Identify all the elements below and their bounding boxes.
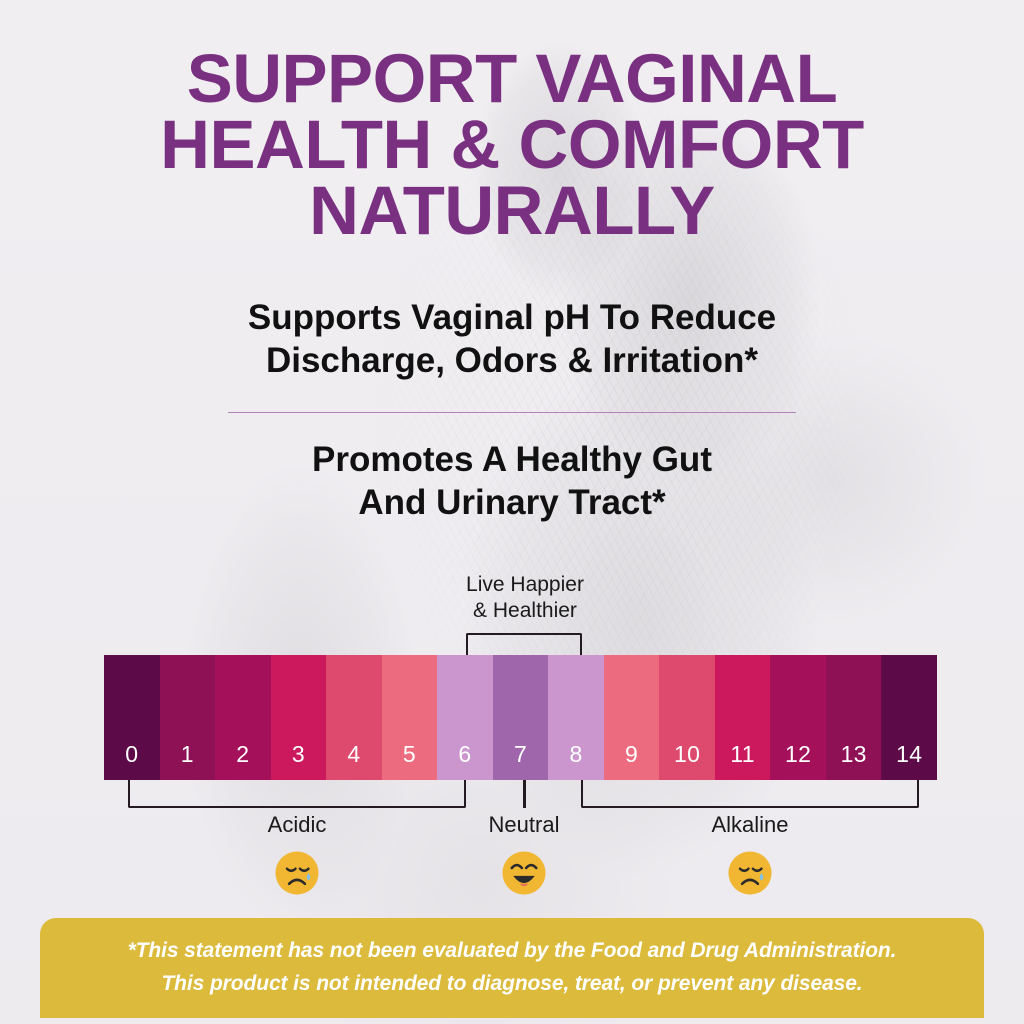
ph-color-bar: 01234567891011121314 — [104, 655, 937, 780]
disclaimer-banner: *This statement has not been evaluated b… — [40, 918, 984, 1018]
ph-band-2: 2 — [215, 655, 271, 780]
ph-band-1: 1 — [160, 655, 216, 780]
disclaimer-line-2: This product is not intended to diagnose… — [161, 972, 862, 997]
ph-band-10: 10 — [659, 655, 715, 780]
ph-band-6: 6 — [437, 655, 493, 780]
ph-band-label-0: 0 — [125, 743, 138, 780]
subheading-primary: Supports Vaginal pH To Reduce Discharge,… — [0, 296, 1024, 383]
headline-line-1: SUPPORT VAGINAL — [0, 46, 1024, 112]
zone-acidic-label: Acidic — [177, 814, 417, 836]
subheading-secondary-line-2: And Urinary Tract* — [0, 481, 1024, 524]
subheading-secondary: Promotes A Healthy Gut And Urinary Tract… — [0, 438, 1024, 525]
subheading-primary-line-1: Supports Vaginal pH To Reduce — [0, 296, 1024, 339]
live-happier-bracket — [466, 633, 582, 656]
zone-acidic: Acidic — [177, 814, 417, 901]
zone-alkaline: Alkaline — [630, 814, 870, 901]
ph-band-3: 3 — [271, 655, 327, 780]
ph-band-label-10: 10 — [674, 743, 700, 780]
zone-alkaline-label: Alkaline — [630, 814, 870, 836]
ph-band-label-8: 8 — [569, 743, 582, 780]
section-divider — [228, 412, 796, 413]
ph-band-13: 13 — [826, 655, 882, 780]
ph-band-14: 14 — [881, 655, 937, 780]
infographic-content: SUPPORT VAGINAL HEALTH & COMFORT NATURAL… — [0, 0, 1024, 1024]
ph-band-label-11: 11 — [730, 743, 754, 780]
ph-band-label-1: 1 — [181, 743, 194, 780]
sad-crying-face-emoji — [630, 850, 870, 901]
alkaline-range-bracket — [581, 780, 919, 808]
headline-line-3: NATURALLY — [0, 178, 1024, 244]
ph-band-label-7: 7 — [514, 743, 527, 780]
page-title: SUPPORT VAGINAL HEALTH & COMFORT NATURAL… — [0, 46, 1024, 245]
ph-band-label-6: 6 — [458, 743, 471, 780]
zone-neutral: Neutral — [404, 814, 644, 901]
ph-band-0: 0 — [104, 655, 160, 780]
live-happier-callout-label: Live Happier & Healthier — [403, 572, 647, 625]
headline-line-2: HEALTH & COMFORT — [0, 112, 1024, 178]
ph-band-label-2: 2 — [236, 743, 249, 780]
ph-band-5: 5 — [382, 655, 438, 780]
zone-neutral-label: Neutral — [404, 814, 644, 836]
ph-band-12: 12 — [770, 655, 826, 780]
ph-band-label-9: 9 — [625, 743, 638, 780]
neutral-range-tick — [523, 780, 526, 808]
ph-band-11: 11 — [715, 655, 771, 780]
grinning-face-emoji — [404, 850, 644, 901]
ph-band-label-13: 13 — [841, 743, 867, 780]
ph-band-9: 9 — [604, 655, 660, 780]
disclaimer-line-1: *This statement has not been evaluated b… — [128, 939, 897, 964]
ph-band-7: 7 — [493, 655, 549, 780]
sad-crying-face-emoji — [177, 850, 417, 901]
subheading-secondary-line-1: Promotes A Healthy Gut — [0, 438, 1024, 481]
ph-band-label-12: 12 — [785, 743, 811, 780]
ph-band-label-5: 5 — [403, 743, 416, 780]
subheading-primary-line-2: Discharge, Odors & Irritation* — [0, 339, 1024, 382]
ph-band-label-4: 4 — [347, 743, 360, 780]
ph-band-label-3: 3 — [292, 743, 305, 780]
ph-band-8: 8 — [548, 655, 604, 780]
acidic-range-bracket — [128, 780, 466, 808]
live-happier-line-2: & Healthier — [403, 598, 647, 624]
live-happier-line-1: Live Happier — [403, 572, 647, 598]
ph-band-label-14: 14 — [896, 743, 922, 780]
ph-band-4: 4 — [326, 655, 382, 780]
